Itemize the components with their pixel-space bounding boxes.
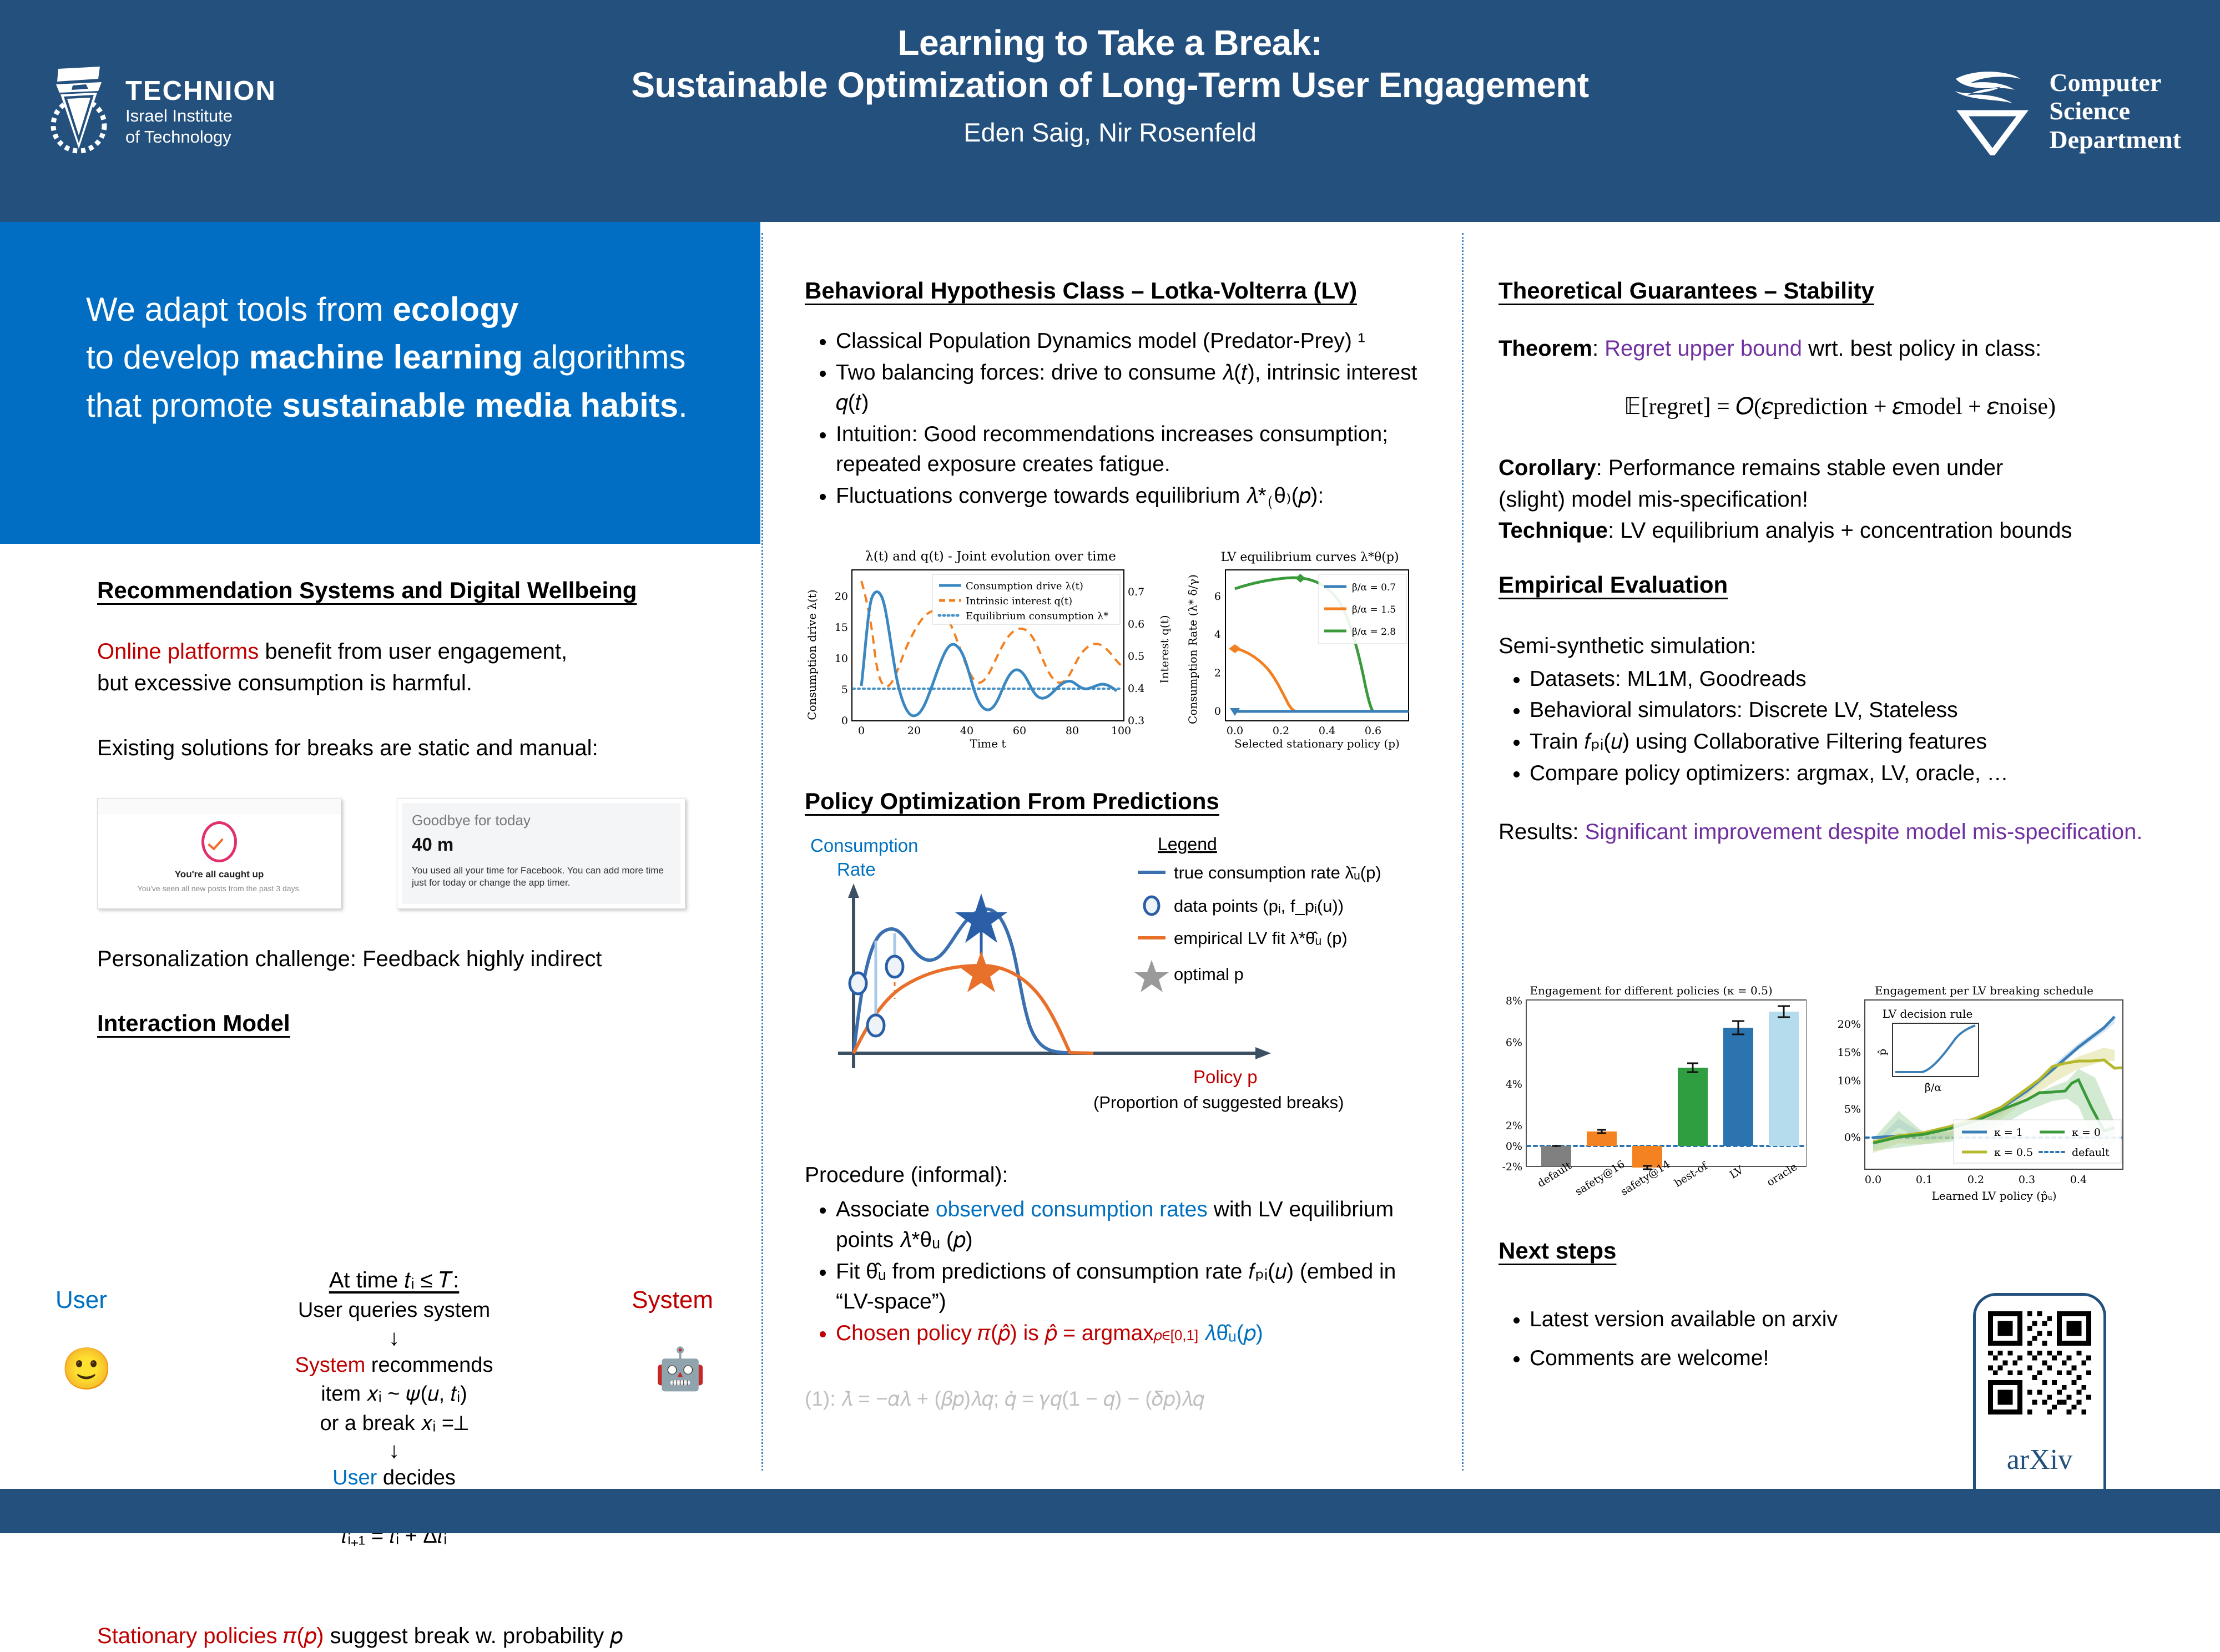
svg-text:0%: 0% xyxy=(1844,1131,1861,1144)
theorem-label: Theorem xyxy=(1499,336,1592,361)
flow-arrow-2-icon: ↓ xyxy=(211,1439,577,1462)
empirical-section: Empirical Evaluation Semi-synthetic simu… xyxy=(1499,572,2181,848)
flow-time-header: At time 𝑡ᵢ ≤ 𝑇: xyxy=(211,1265,577,1296)
svg-text:6%: 6% xyxy=(1506,1037,1522,1049)
paragraph-existing-solutions: Existing solutions for breaks are static… xyxy=(97,732,730,764)
chart-engagement-schedule: Engagement per LV breaking schedule 20%1… xyxy=(1807,982,2151,1204)
svg-text:0: 0 xyxy=(841,715,848,727)
technion-wordmark: TECHNION Israel Institute of Technology xyxy=(125,77,276,148)
bar-lv xyxy=(1723,1028,1753,1146)
checkmark-circle-icon xyxy=(201,821,237,862)
empirical-bullet-3: Compare policy optimizers: argmax, LV, o… xyxy=(1530,759,2181,789)
legend-equilibrium: Equilibrium consumption λ* xyxy=(966,610,1108,622)
svg-text:80: 80 xyxy=(1066,725,1079,737)
legend-intrinsic-interest: Intrinsic interest q(t) xyxy=(966,595,1072,607)
svg-text:0.7: 0.7 xyxy=(1128,586,1144,598)
column-divider-left xyxy=(761,233,763,1471)
svg-text:Consumption drive λ(t): Consumption drive λ(t) xyxy=(805,589,819,720)
diagram-y-label-1: Consumption xyxy=(810,835,918,856)
optimal-star-fit xyxy=(959,951,1003,992)
theory-section: Theoretical Guarantees – Stability Theor… xyxy=(1499,277,2181,547)
svg-text:-2%: -2% xyxy=(1502,1161,1522,1173)
legend-beta-alpha-07: β/α = 0.7 xyxy=(1352,582,1396,593)
svg-text:4: 4 xyxy=(1214,629,1221,641)
heading-interaction-model: Interaction Model xyxy=(97,1010,741,1037)
procedure-heading: Procedure (informal): xyxy=(805,1160,1426,1190)
diagram-x-label: Policy p xyxy=(1193,1067,1258,1087)
column-divider-right xyxy=(1462,233,1464,1471)
svg-text:60: 60 xyxy=(1013,725,1026,737)
heading-policy-optimization: Policy Optimization From Predictions xyxy=(805,788,1426,815)
corollary-label: Corollary xyxy=(1499,456,1596,480)
legend-data-points: data points (pᵢ, f_pᵢ(u)) xyxy=(1174,896,1344,916)
inset-ylabel: p̂ xyxy=(1876,1049,1889,1055)
paragraph-stationary: Stationary policies 𝜋(𝑝) suggest break w… xyxy=(97,1620,741,1652)
technion-sub-2: of Technology xyxy=(125,127,276,148)
technique-line: Technique: LV equilibrium analyis + conc… xyxy=(1499,515,2181,547)
instagram-card-title: You're all caught up xyxy=(98,869,341,880)
technique-label: Technique xyxy=(1499,518,1608,543)
svg-text:0.6: 0.6 xyxy=(1365,725,1381,737)
facebook-card-body: You used all your time for Facebook. You… xyxy=(412,865,670,890)
legend-kappa-0: κ = 0 xyxy=(2072,1126,2101,1139)
legend-title: Legend xyxy=(1158,834,1217,854)
accent-observed-rates: observed consumption rates xyxy=(936,1198,1208,1221)
diagram-x-sublabel: (Proportion of suggested breaks) xyxy=(1093,1093,1344,1112)
procedure-bullet-2: Fit θ̂ᵤ from predictions of consumption … xyxy=(836,1257,1426,1317)
svg-text:5%: 5% xyxy=(1844,1103,1861,1115)
legend-beta-alpha-28: β/α = 2.8 xyxy=(1352,627,1396,638)
hero-line-2: to develop machine learning algorithms xyxy=(86,334,722,381)
cs-line-3: Department xyxy=(2049,125,2181,154)
heading-next-steps: Next steps xyxy=(1499,1237,2181,1264)
policy-optimization-section: Policy Optimization From Predictions xyxy=(805,788,1426,815)
legend-optimal-p: optimal p xyxy=(1174,964,1244,984)
data-point-2 xyxy=(886,956,903,977)
chart-lv-eq-title: LV equilibrium curves λ*θ(p) xyxy=(1220,550,1399,564)
svg-text:0.4: 0.4 xyxy=(1128,683,1144,695)
xtick-oracle: oracle xyxy=(1765,1161,1799,1189)
flow-step-3-rest: decides xyxy=(377,1466,456,1489)
accent-online-platforms: Online platforms xyxy=(97,639,259,664)
bar-oracle xyxy=(1769,1012,1799,1146)
procedure-bullet-3: Chosen policy 𝜋(𝑝̂) is 𝑝̂ = argmax𝑝∈[0,1… xyxy=(836,1318,1426,1349)
hero-line-2-a: to develop xyxy=(86,339,249,376)
results-line: Results: Significant improvement despite… xyxy=(1499,816,2181,848)
legend-consumption-drive: Consumption drive λ(t) xyxy=(966,580,1083,592)
policy-diagram: Consumption Rate xyxy=(805,832,1426,1143)
svg-text:0.3: 0.3 xyxy=(2019,1174,2035,1186)
heading-recsys: Recommendation Systems and Digital Wellb… xyxy=(97,577,730,604)
chart-lv-equilibrium-curves: LV equilibrium curves λ*θ(p) Consumption… xyxy=(1182,547,1432,752)
bar-best-of xyxy=(1678,1068,1708,1146)
chart-lv-joint-title: λ(t) and q(t) - Joint evolution over tim… xyxy=(865,549,1116,564)
footnote-lv-odes: (1): 𝜆̇ = −𝛼𝜆 + (𝛽𝑝)𝜆𝑞; 𝑞̇ = 𝛾𝑞(1 − 𝑞) −… xyxy=(805,1387,1426,1411)
heading-lv-class: Behavioral Hypothesis Class – Lotka-Volt… xyxy=(805,277,1426,304)
svg-text:20: 20 xyxy=(835,590,848,603)
svg-text:20%: 20% xyxy=(1838,1018,1861,1030)
facebook-card-time: 40 m xyxy=(412,834,670,855)
technique-rest: : LV equilibrium analyis + concentration… xyxy=(1608,518,2072,543)
svg-text:0.2: 0.2 xyxy=(1273,725,1289,737)
hero-line-1-b: ecology xyxy=(392,291,518,328)
procedure-bullet-1: Associate observed consumption rates wit… xyxy=(836,1195,1426,1255)
theorem-rest: wrt. best policy in class: xyxy=(1802,336,2041,361)
flow-step-2-line-3: or a break 𝑥ᵢ =⊥ xyxy=(211,1409,577,1438)
lv-bullet-3: Fluctuations converge towards equilibriu… xyxy=(836,481,1426,512)
svg-text:2: 2 xyxy=(1214,667,1221,679)
procedure-3-subscript: 𝑝∈[0,1] xyxy=(1154,1327,1198,1343)
facebook-card-inner: Goodbye for today 40 m You used all your… xyxy=(402,803,680,904)
poster-authors: Eden Saig, Nir Rosenfeld xyxy=(544,117,1676,148)
legend-beta-alpha-15: β/α = 1.5 xyxy=(1352,604,1396,615)
facebook-card-title: Goodbye for today xyxy=(412,812,670,829)
svg-text:Selected stationary policy (p): Selected stationary policy (p) xyxy=(1234,737,1400,750)
svg-text:0.6: 0.6 xyxy=(1128,618,1144,630)
results-label: Results: xyxy=(1499,820,1585,844)
chart-engagement-schedule-title: Engagement per LV breaking schedule xyxy=(1875,984,2093,997)
svg-text:0.4: 0.4 xyxy=(1319,725,1335,737)
poster-title-line-2: Sustainable Optimization of Long-Term Us… xyxy=(544,64,1676,107)
flow-step-2-line-2: item 𝑥ᵢ ~ 𝜓(𝑢, 𝑡ᵢ) xyxy=(211,1380,577,1408)
arxiv-caption: arXiv xyxy=(1976,1443,2103,1476)
svg-text:40: 40 xyxy=(960,725,973,737)
svg-text:0.1: 0.1 xyxy=(1916,1174,1933,1186)
corollary-line: Corollary: Performance remains stable ev… xyxy=(1499,452,2181,516)
paragraph-1-rest: benefit from user engagement, xyxy=(259,639,567,664)
hero-line-3-c: . xyxy=(678,387,688,424)
interaction-model-section: Interaction Model xyxy=(97,1010,741,1037)
svg-text:15: 15 xyxy=(835,622,848,634)
procedure-3-a: Chosen policy 𝜋(𝑝̂) is 𝑝̂ = argmax xyxy=(836,1321,1154,1345)
label-system: System xyxy=(632,1286,713,1314)
legend-kappa-1: κ = 1 xyxy=(1994,1126,2023,1139)
qr-code-icon xyxy=(1988,1311,2091,1414)
svg-text:10%: 10% xyxy=(1838,1075,1861,1087)
technion-logo: TECHNION Israel Institute of Technology xyxy=(47,58,280,166)
chart-engagement-policies: Engagement for different policies (κ = 0… xyxy=(1474,982,1818,1204)
paragraph-online-platforms: Online platforms benefit from user engag… xyxy=(97,636,730,699)
svg-text:6: 6 xyxy=(1214,590,1221,603)
accent-regret-bound: Regret upper bound xyxy=(1605,336,1802,361)
recsys-section: Recommendation Systems and Digital Wellb… xyxy=(97,577,730,764)
procedure-list: Associate observed consumption rates wit… xyxy=(805,1195,1426,1348)
svg-text:0: 0 xyxy=(858,725,865,737)
existing-solutions-cards: You're all caught up You've seen all new… xyxy=(97,798,685,917)
instagram-caught-up-card: You're all caught up You've seen all new… xyxy=(97,798,341,909)
cs-swirl-icon xyxy=(1950,67,2034,155)
heading-empirical-evaluation: Empirical Evaluation xyxy=(1499,572,2181,598)
regret-formula: 𝔼[regret] = 𝑂(𝜀prediction + 𝜀model + 𝜀no… xyxy=(1499,392,2181,420)
lv-bullet-2: Intuition: Good recommendations increase… xyxy=(836,420,1426,480)
svg-text:8%: 8% xyxy=(1506,995,1522,1007)
accent-stationary-policies: Stationary policies 𝜋(𝑝) xyxy=(97,1624,324,1648)
svg-text:0.2: 0.2 xyxy=(1967,1174,1984,1186)
xtick-best-of: best-of xyxy=(1672,1159,1711,1190)
flow-arrow-1-icon: ↓ xyxy=(211,1326,577,1350)
semi-synthetic-label: Semi-synthetic simulation: xyxy=(1499,630,2181,662)
lv-hypothesis-section: Behavioral Hypothesis Class – Lotka-Volt… xyxy=(805,277,1426,513)
lv-bullet-0: Classical Population Dynamics model (Pre… xyxy=(836,326,1426,357)
hero-line-3-a: that promote xyxy=(86,387,282,424)
svg-text:20: 20 xyxy=(907,725,921,737)
poster-footer xyxy=(0,1489,2220,1533)
flow-step-3-line-1: User decides xyxy=(211,1463,577,1492)
instagram-card-topbar xyxy=(98,799,341,814)
technion-crest-icon xyxy=(47,65,111,160)
svg-text:0.0: 0.0 xyxy=(1865,1174,1881,1186)
accent-results: Significant improvement despite model mi… xyxy=(1585,820,2143,844)
procedure-1-a: Associate xyxy=(836,1198,936,1221)
theorem-line: Theorem: Regret upper bound wrt. best po… xyxy=(1499,333,2181,365)
xtick-safety16: safety@16 xyxy=(1573,1158,1627,1198)
svg-text:0%: 0% xyxy=(1506,1140,1522,1153)
svg-text:0.0: 0.0 xyxy=(1227,725,1243,737)
stationary-policies-note: Stationary policies 𝜋(𝑝) suggest break w… xyxy=(97,1620,741,1652)
robot-icon: 🤖 xyxy=(655,1348,706,1390)
corollary-text-1: : Performance remains stable even under xyxy=(1596,456,2004,480)
heading-theoretical-guarantees: Theoretical Guarantees – Stability xyxy=(1499,277,2181,304)
diagram-y-label-2: Rate xyxy=(837,859,876,880)
chart-engagement-policies-title: Engagement for different policies (κ = 0… xyxy=(1530,984,1772,997)
corollary-text-2: (slight) model mis-specification! xyxy=(1499,487,1808,512)
technion-name: TECHNION xyxy=(125,77,276,105)
legend-default: default xyxy=(2072,1146,2110,1159)
legend-lv-fit: empirical LV fit λ*θ̂ᵤ (p) xyxy=(1174,928,1348,948)
svg-text:Learned LV policy (p̂ᵤ): Learned LV policy (p̂ᵤ) xyxy=(1931,1189,2056,1203)
poster-title-block: Learning to Take a Break: Sustainable Op… xyxy=(544,22,1676,148)
label-user: User xyxy=(56,1286,107,1314)
svg-text:0.4: 0.4 xyxy=(2070,1174,2087,1186)
svg-text:0.5: 0.5 xyxy=(1128,650,1144,663)
chart-lv-joint-evolution: λ(t) and q(t) - Joint evolution over tim… xyxy=(799,547,1182,752)
empirical-bullet-0: Datasets: ML1M, Goodreads xyxy=(1530,664,2181,695)
cs-department-wordmark: Computer Science Department xyxy=(2049,68,2181,154)
procedure-3-c: 𝜆θ̂ᵤ(𝑝) xyxy=(1198,1321,1263,1345)
poster-header: TECHNION Israel Institute of Technology … xyxy=(0,0,2220,222)
cs-line-1: Computer xyxy=(2049,68,2181,97)
hero-line-1: We adapt tools from ecology xyxy=(86,286,722,334)
poster-title-line-1: Learning to Take a Break: xyxy=(544,22,1676,64)
procedure-section: Procedure (informal): Associate observed… xyxy=(805,1160,1426,1411)
svg-text:0: 0 xyxy=(1214,705,1221,718)
cs-department-logo: Computer Science Department xyxy=(1950,67,2181,155)
hero-line-3-b: sustainable media habits xyxy=(282,387,679,424)
technion-sub-1: Israel Institute xyxy=(125,105,276,127)
svg-text:10: 10 xyxy=(835,653,848,665)
paragraph-1-line-2: but excessive consumption is harmful. xyxy=(97,671,472,695)
flow-accent-system: System xyxy=(295,1353,366,1377)
empirical-bullet-2: Train 𝑓ₚᵢ(𝑢) using Collaborative Filteri… xyxy=(1530,727,2181,757)
hero-line-1-a: We adapt tools from xyxy=(86,291,392,328)
hero-line-3: that promote sustainable media habits. xyxy=(86,382,722,430)
svg-text:2%: 2% xyxy=(1506,1120,1522,1132)
legend-kappa-05: κ = 0.5 xyxy=(1994,1146,2033,1159)
svg-text:0.3: 0.3 xyxy=(1128,715,1144,727)
inset-title: LV decision rule xyxy=(1883,1007,1973,1020)
inset-xlabel: β̂/α xyxy=(1925,1082,1941,1094)
svg-text:Time t: Time t xyxy=(970,737,1006,750)
legend-true-rate: true consumption rate λ̄ᵤ(p) xyxy=(1174,863,1381,882)
empirical-bullet-list: Datasets: ML1M, Goodreads Behavioral sim… xyxy=(1499,664,2181,789)
svg-text:Consumption Rate (λ* δ/γ): Consumption Rate (λ* δ/γ) xyxy=(1186,574,1199,724)
instagram-card-subtitle: You've seen all new posts from the past … xyxy=(98,884,341,893)
hero-line-2-b: machine learning xyxy=(249,339,523,376)
hero-line-2-c: algorithms xyxy=(523,339,685,376)
svg-text:15%: 15% xyxy=(1838,1047,1861,1059)
flow-step-2-rest: recommends xyxy=(365,1353,493,1377)
svg-text:5: 5 xyxy=(841,684,848,696)
flow-step-2-line-1: System recommends xyxy=(211,1351,577,1380)
personalization-note: Personalization challenge: Feedback high… xyxy=(97,943,741,975)
svg-text:Interest q(t): Interest q(t) xyxy=(1158,615,1171,683)
paragraph-stationary-rest: suggest break w. probability 𝑝 xyxy=(324,1624,622,1648)
user-face-icon: 🙂 xyxy=(61,1348,112,1390)
empirical-bullet-1: Behavioral simulators: Discrete LV, Stat… xyxy=(1530,695,2181,726)
lv-bullet-list: Classical Population Dynamics model (Pre… xyxy=(805,326,1426,512)
hero-statement: We adapt tools from ecology to develop m… xyxy=(0,222,760,544)
svg-text:4%: 4% xyxy=(1506,1078,1522,1090)
data-point-3 xyxy=(850,973,866,994)
flow-accent-user: User xyxy=(332,1466,377,1489)
data-point-1 xyxy=(867,1015,884,1036)
lv-bullet-1: Two balancing forces: drive to consume 𝜆… xyxy=(836,358,1426,418)
facebook-timer-card: Goodbye for today 40 m You used all your… xyxy=(397,798,685,909)
paragraph-personalization: Personalization challenge: Feedback high… xyxy=(97,943,741,975)
cs-line-2: Science xyxy=(2049,97,2181,125)
flow-step-1: User queries system xyxy=(211,1296,577,1325)
